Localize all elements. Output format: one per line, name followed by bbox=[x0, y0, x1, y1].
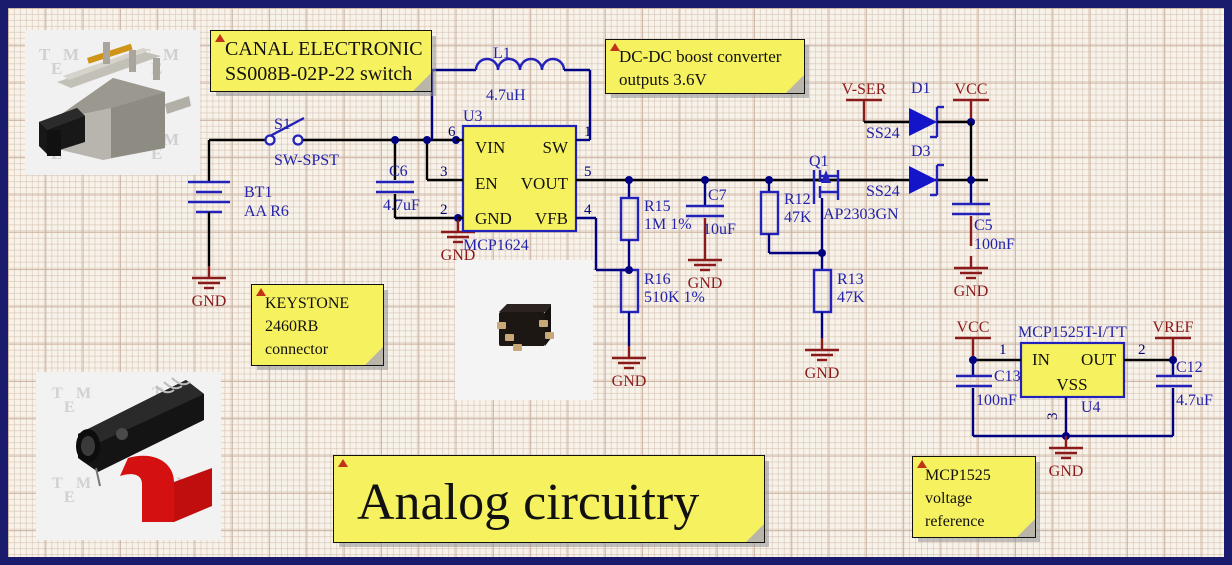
gnd-label-c5: GND bbox=[954, 283, 989, 300]
u4-value: MCP1525T-I/TT bbox=[1018, 324, 1127, 341]
gnd-label-r13: GND bbox=[805, 365, 840, 382]
u3-pin-vin: VIN bbox=[475, 138, 505, 157]
note-fold-corner bbox=[786, 75, 804, 93]
junction-dot bbox=[765, 176, 773, 184]
title-text: Analog circuitry bbox=[343, 461, 756, 545]
u4-pinnum-3: 3 bbox=[1045, 413, 1061, 421]
u3-pin-sw: SW bbox=[543, 138, 569, 157]
note-connector-line1: KEYSTONE bbox=[265, 292, 375, 315]
note-switch-line2: SS008B-02P-22 switch bbox=[225, 62, 423, 87]
r12-ref: R12 bbox=[784, 191, 811, 208]
r13-value: 47K bbox=[837, 289, 865, 306]
note-boost-line2: outputs 3.6V bbox=[619, 68, 796, 91]
junction-dot bbox=[391, 136, 399, 144]
c6-ref: C6 bbox=[389, 163, 408, 180]
diode-d1 bbox=[909, 107, 971, 137]
u3-pin-en: EN bbox=[475, 174, 498, 193]
junction-dot bbox=[423, 136, 431, 144]
u3-value: MCP1624 bbox=[463, 237, 529, 254]
gnd-label-u4: GND bbox=[1049, 463, 1084, 480]
note-fold-corner bbox=[1017, 519, 1035, 537]
d3-ref: D3 bbox=[911, 143, 931, 160]
c12-value: 4.7uF bbox=[1176, 392, 1213, 409]
note-boost-line1: DC-DC boost converter bbox=[619, 45, 796, 68]
c7-ref: C7 bbox=[708, 187, 727, 204]
netlabel-vser bbox=[846, 100, 882, 122]
note-switch: CANAL ELECTRONIC SS008B-02P-22 switch bbox=[210, 30, 432, 92]
netlabel-vser-text: V-SER bbox=[842, 81, 887, 98]
note-flag-icon bbox=[610, 43, 620, 51]
note-flag-icon bbox=[256, 288, 266, 296]
note-connector-line3: connector bbox=[265, 338, 375, 361]
note-vref-line2: voltage bbox=[925, 487, 1027, 510]
battery-ref: BT1 bbox=[244, 184, 272, 201]
c5-value: 100nF bbox=[974, 236, 1015, 253]
note-connector-line2: 2460RB bbox=[265, 315, 375, 338]
u3-pinnum-2: 2 bbox=[440, 202, 448, 218]
schematic-sheet: TME TME TME TME bbox=[8, 8, 1224, 557]
u4-pin-in: IN bbox=[1032, 350, 1050, 369]
gnd-label-c7: GND bbox=[688, 275, 723, 292]
note-flag-icon bbox=[917, 460, 927, 468]
gnd-label-battery: GND bbox=[192, 293, 227, 310]
note-switch-line1: CANAL ELECTRONIC bbox=[225, 37, 423, 62]
note-vref-line3: reference bbox=[925, 510, 1027, 533]
switch-value: SW-SPST bbox=[274, 152, 339, 169]
r16-ref: R16 bbox=[644, 271, 671, 288]
q1-value: AP2303GN bbox=[823, 206, 899, 223]
note-fold-corner bbox=[746, 524, 764, 542]
r15-value: 1M 1% bbox=[644, 216, 692, 233]
note-boost: DC-DC boost converter outputs 3.6V bbox=[605, 39, 805, 94]
resistor-r16 bbox=[621, 270, 638, 346]
c5-ref: C5 bbox=[974, 217, 993, 234]
note-fold-corner bbox=[365, 347, 383, 365]
schematic-window: TME TME TME TME bbox=[0, 0, 1232, 565]
junction-dot bbox=[701, 176, 709, 184]
gnd-symbol-r13 bbox=[805, 338, 839, 360]
resistor-r15 bbox=[621, 180, 638, 270]
gnd-symbol-u4 bbox=[1049, 436, 1083, 458]
l1-value: 4.7uH bbox=[486, 87, 526, 104]
netlabel-vref-text: VREF bbox=[1153, 319, 1194, 336]
note-vref-line1: MCP1525 bbox=[925, 464, 1027, 487]
d1-ref: D1 bbox=[911, 80, 931, 97]
u3-pinnum-4: 4 bbox=[584, 202, 592, 218]
c13-value: 100nF bbox=[976, 392, 1017, 409]
u4-pinnum-2: 2 bbox=[1138, 342, 1146, 358]
netlabel-vcc-ref-text: VCC bbox=[957, 319, 990, 336]
q1-ref: Q1 bbox=[809, 153, 829, 170]
note-connector: KEYSTONE 2460RB connector bbox=[251, 284, 384, 366]
u4-pin-vss: VSS bbox=[1056, 375, 1087, 394]
u4-pinnum-1: 1 bbox=[999, 342, 1007, 358]
r15-ref: R15 bbox=[644, 198, 671, 215]
gnd-symbol-c5 bbox=[954, 256, 988, 278]
gnd-symbol-battery bbox=[192, 266, 226, 288]
u3-ref: U3 bbox=[463, 108, 483, 125]
junction-dot bbox=[625, 176, 633, 184]
netlabel-vcc-top-text: VCC bbox=[955, 81, 988, 98]
u4-pin-out: OUT bbox=[1081, 350, 1117, 369]
c6-value: 4.7uF bbox=[383, 197, 420, 214]
gnd-label-r16: GND bbox=[612, 373, 647, 390]
u3-pin-vfb: VFB bbox=[535, 209, 568, 228]
u4-ref: U4 bbox=[1081, 399, 1101, 416]
u3-pin-gnd: GND bbox=[475, 209, 512, 228]
c12-ref: C12 bbox=[1176, 359, 1203, 376]
r12-value: 47K bbox=[784, 209, 812, 226]
d1-value: SS24 bbox=[866, 125, 900, 142]
l1-ref: L1 bbox=[493, 45, 511, 62]
u3-pinnum-3: 3 bbox=[440, 164, 448, 180]
resistor-r13 bbox=[814, 253, 831, 338]
gnd-symbol-r16 bbox=[612, 346, 646, 368]
u3-pin-vout: VOUT bbox=[521, 174, 569, 193]
c13-ref: C13 bbox=[994, 368, 1021, 385]
c7-value: 10uF bbox=[703, 221, 736, 238]
battery-value: AA R6 bbox=[244, 203, 289, 220]
d3-value: SS24 bbox=[866, 183, 900, 200]
r13-ref: R13 bbox=[837, 271, 864, 288]
note-flag-icon bbox=[215, 34, 225, 42]
note-fold-corner bbox=[413, 73, 431, 91]
u3-pinnum-6: 6 bbox=[448, 124, 456, 140]
gnd-symbol-c7 bbox=[688, 248, 722, 270]
title-note: Analog circuitry bbox=[333, 455, 765, 543]
note-flag-icon bbox=[338, 459, 348, 467]
u3-pinnum-5: 5 bbox=[584, 164, 592, 180]
switch-ref: S1 bbox=[274, 116, 291, 133]
battery-bt1 bbox=[188, 168, 230, 266]
note-vref: MCP1525 voltage reference bbox=[912, 456, 1036, 538]
